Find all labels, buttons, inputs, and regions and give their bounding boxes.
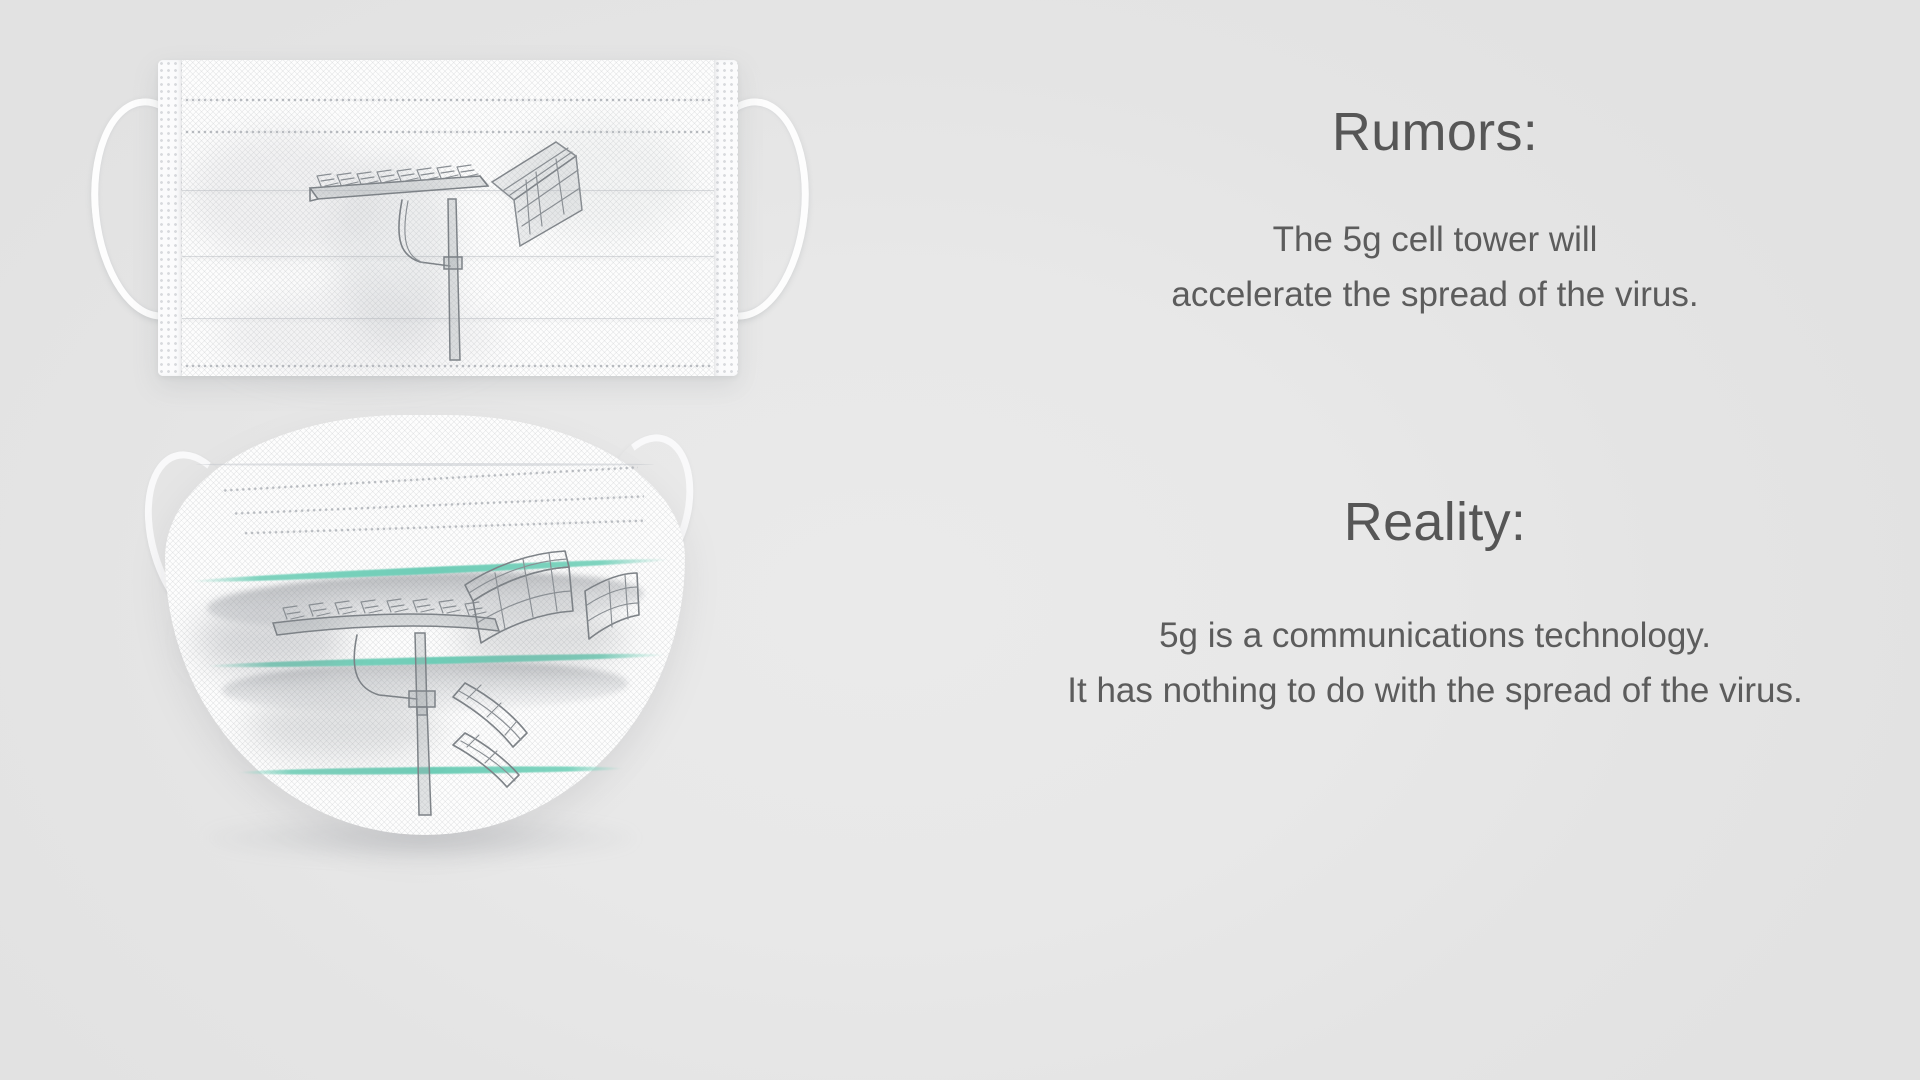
text-panel: Rumors: The 5g cell tower will accelerat… — [950, 0, 1920, 1080]
reality-heading: Reality: — [950, 495, 1920, 549]
mask-edge-crimp-right — [714, 60, 738, 376]
3d-stitch-row-1 — [222, 465, 638, 492]
nose-bridge-ridge — [196, 463, 654, 466]
fabric-shading-right — [510, 120, 690, 240]
stitch-row-top — [184, 98, 712, 102]
cell-tower-antenna-art-flat — [158, 60, 738, 376]
rumors-line-2: accelerate the spread of the virus. — [950, 267, 1920, 322]
mint-trim-band-3 — [238, 765, 623, 776]
reality-section: Reality: — [950, 495, 1920, 549]
rumors-section: Rumors: — [950, 105, 1920, 159]
pleat-line-2 — [182, 256, 714, 257]
reality-line-2: It has nothing to do with the spread of … — [950, 663, 1920, 718]
stitch-row-bottom — [184, 364, 712, 368]
fabric-shading-left — [188, 130, 378, 260]
infographic-canvas: Rumors: The 5g cell tower will accelerat… — [0, 0, 1920, 1080]
3d-surgical-mask — [165, 415, 685, 835]
mask-edge-crimp-left — [158, 60, 182, 376]
rumors-line-1: The 5g cell tower will — [950, 212, 1920, 267]
stitch-row-second — [184, 130, 712, 134]
rumors-body: The 5g cell tower will accelerate the sp… — [950, 212, 1920, 323]
flat-mask-body — [158, 60, 738, 376]
3d-stitch-row-3 — [243, 519, 643, 536]
flat-surgical-mask — [100, 52, 800, 392]
3d-stitch-row-2 — [233, 494, 644, 515]
pleat-line-1 — [182, 190, 714, 191]
reality-body: 5g is a communications technology. It ha… — [950, 608, 1920, 719]
rumors-heading: Rumors: — [950, 105, 1920, 159]
3d-mask-body — [165, 415, 685, 835]
pleat-line-3 — [182, 318, 714, 319]
reality-line-1: 5g is a communications technology. — [950, 608, 1920, 663]
